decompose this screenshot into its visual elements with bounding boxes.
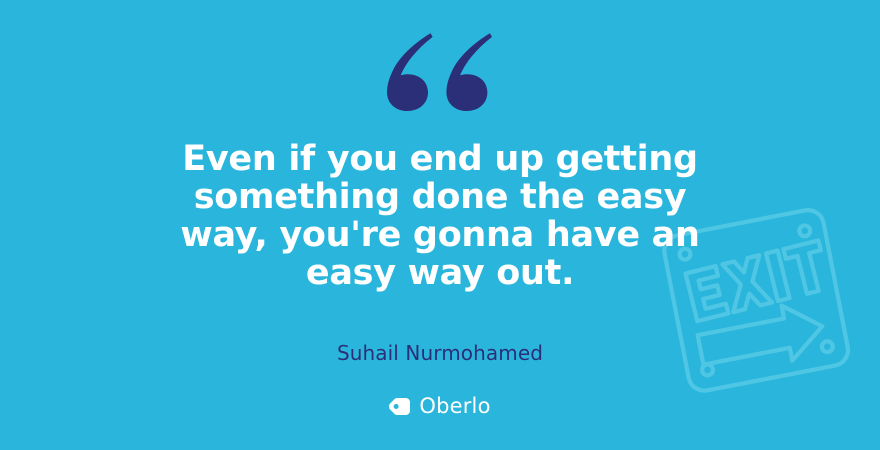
card-content: Even if you end up getting something don… bbox=[0, 0, 880, 450]
tag-icon bbox=[389, 398, 410, 415]
quote-line: way, you're gonna have an bbox=[160, 216, 720, 254]
quote-line: Even if you end up getting bbox=[160, 140, 720, 178]
quote-text: Even if you end up getting something don… bbox=[160, 140, 720, 292]
author-name: Suhail Nurmohamed bbox=[0, 340, 880, 366]
quote-mark-icon bbox=[0, 31, 880, 123]
brand-lockup: Oberlo bbox=[0, 392, 880, 420]
quote-card: Even if you end up getting something don… bbox=[0, 0, 880, 450]
quote-line: something done the easy bbox=[160, 178, 720, 216]
brand-name: Oberlo bbox=[419, 396, 490, 417]
quote-line: easy way out. bbox=[160, 254, 720, 292]
